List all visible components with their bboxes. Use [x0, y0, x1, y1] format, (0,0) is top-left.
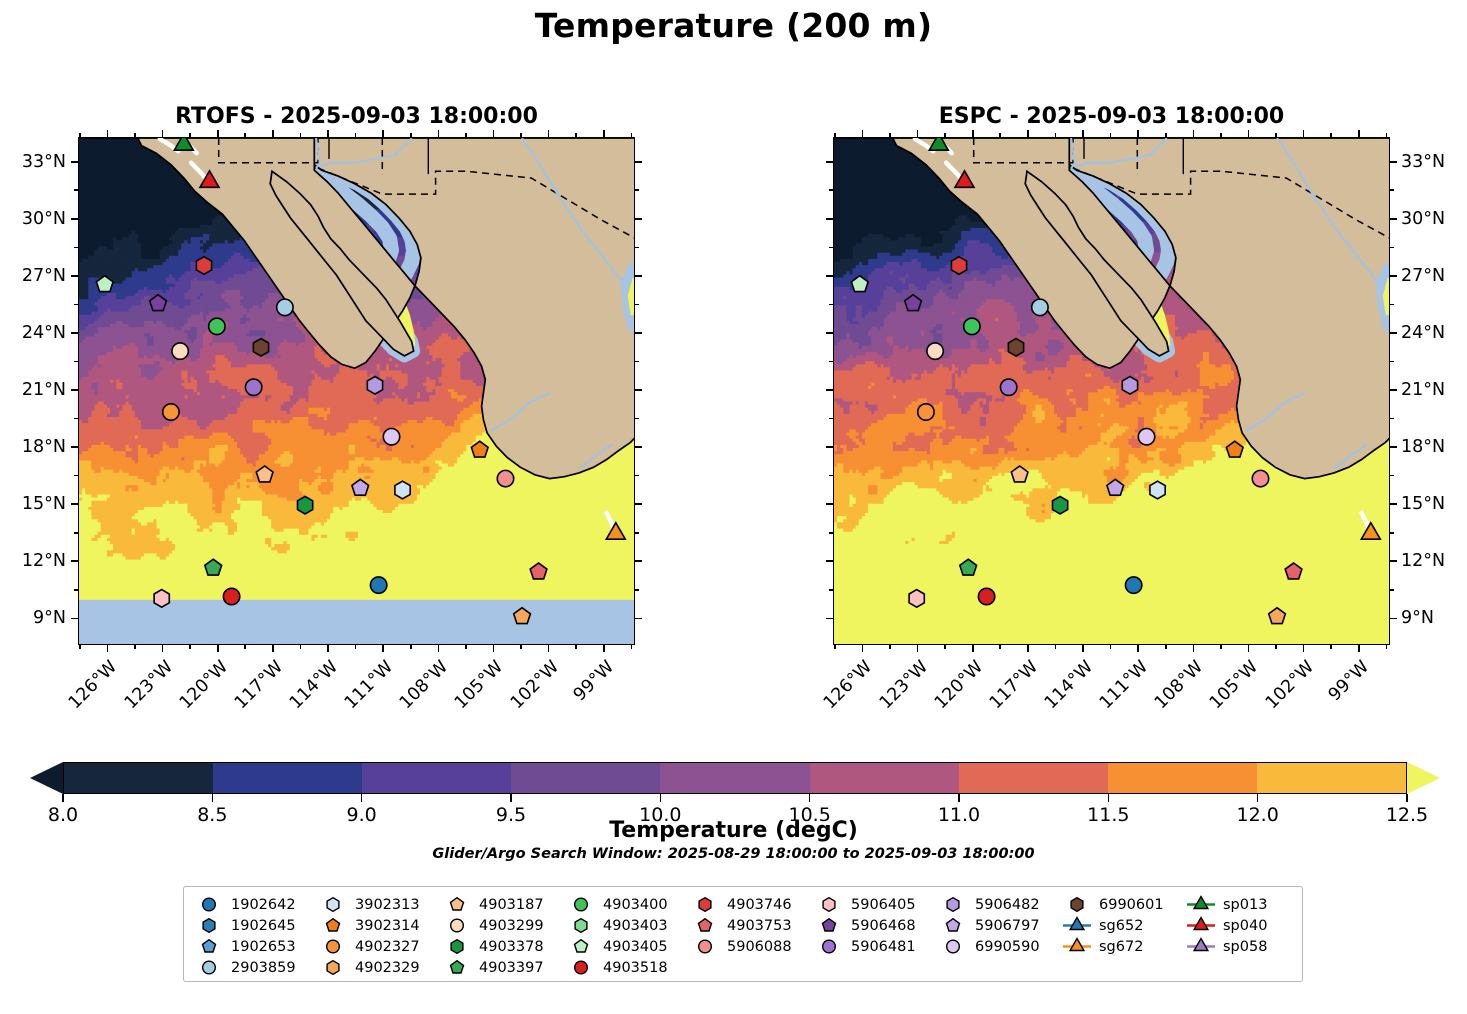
colorbar-band-5 — [810, 763, 959, 793]
legend-item-4903753[interactable]: 4903753 — [690, 915, 814, 936]
legend-item-4903746[interactable]: 4903746 — [690, 894, 814, 915]
legend-label: 4903403 — [603, 918, 668, 934]
legend-marker-icon — [318, 937, 348, 956]
legend-marker-icon — [318, 958, 348, 977]
legend-marker-icon — [690, 916, 720, 935]
lat-tick — [1390, 446, 1397, 448]
colorbar-band-7 — [1108, 763, 1257, 793]
lon-tick — [217, 645, 219, 652]
lat-tick — [635, 618, 642, 620]
legend-item-4902329[interactable]: 4902329 — [318, 957, 442, 978]
colorbar-tick — [958, 794, 960, 802]
platform-marker-1902642[interactable] — [370, 577, 386, 593]
legend-marker-icon — [442, 916, 472, 935]
legend-marker-icon — [318, 895, 348, 914]
lat-tick-label: 15°N — [1401, 494, 1445, 514]
lon-tick — [548, 645, 550, 652]
lon-tick — [1358, 130, 1360, 137]
temperature-field — [79, 138, 634, 644]
lat-tick — [635, 332, 642, 334]
colorbar-band-0 — [64, 763, 213, 793]
legend-label: 4903753 — [727, 918, 792, 934]
lat-tick — [1390, 618, 1397, 620]
legend-item-4902327[interactable]: 4902327 — [318, 936, 442, 957]
lon-tick — [862, 645, 864, 652]
lon-tick — [162, 645, 164, 652]
legend-item-3902313[interactable]: 3902313 — [318, 894, 442, 915]
marker-legend[interactable]: 1902642390231349031874903400490374659064… — [183, 886, 1303, 982]
lat-tick — [1390, 332, 1397, 334]
legend-item-4903405[interactable]: 4903405 — [566, 936, 690, 957]
lat-tick — [635, 275, 642, 277]
lon-tick — [1082, 130, 1084, 137]
legend-marker-icon — [194, 958, 224, 977]
legend-label: 4903299 — [479, 918, 544, 934]
figure-root: Temperature (200 m) RTOFS - 2025-09-03 1… — [0, 0, 1467, 1014]
legend-label: 1902653 — [231, 939, 296, 955]
panel-title-rtofs: RTOFS - 2025-09-03 18:00:00 — [78, 104, 635, 129]
legend-item-6990601[interactable]: 6990601 — [1062, 894, 1186, 915]
lat-tick — [635, 560, 642, 562]
platform-marker-5906481[interactable] — [245, 379, 261, 395]
colorbar-band-6 — [959, 763, 1108, 793]
panel-title-espc: ESPC - 2025-09-03 18:00:00 — [833, 104, 1390, 129]
colorbar-title: Temperature (degC) — [0, 818, 1467, 843]
lon-tick — [382, 130, 384, 137]
lon-tick — [1248, 645, 1250, 652]
lon-tick — [493, 645, 495, 652]
legend-marker-icon — [194, 895, 224, 914]
legend-item-5906481[interactable]: 5906481 — [814, 936, 938, 957]
legend-marker-icon — [1186, 937, 1216, 956]
legend-label: 5906481 — [851, 939, 916, 955]
colorbar-tick — [1108, 794, 1110, 802]
lon-tick — [862, 130, 864, 137]
lon-tick — [603, 645, 605, 652]
lat-tick — [826, 618, 833, 620]
lat-tick — [71, 332, 78, 334]
legend-marker-icon — [442, 937, 472, 956]
colorbar-extend-low-icon — [30, 762, 63, 794]
legend-label: 4902329 — [355, 960, 420, 976]
lat-tick-label: 27°N — [8, 266, 66, 286]
lon-tick — [1303, 645, 1305, 652]
lat-tick — [1390, 161, 1397, 163]
legend-item-5906088[interactable]: 5906088 — [690, 936, 814, 957]
lon-tick — [1027, 130, 1029, 137]
lat-tick — [71, 218, 78, 220]
legend-label: 5906797 — [975, 918, 1040, 934]
legend-item-sg672[interactable]: sg672 — [1062, 936, 1186, 957]
legend-marker-icon — [814, 895, 844, 914]
lat-tick — [71, 618, 78, 620]
platform-marker-4903746[interactable] — [196, 257, 211, 275]
lon-tick — [493, 130, 495, 137]
lon-tick — [917, 645, 919, 652]
legend-marker-icon — [690, 895, 720, 914]
legend-label: 4903397 — [479, 960, 544, 976]
legend-label: 4902327 — [355, 939, 420, 955]
legend-marker-icon — [1186, 895, 1216, 914]
legend-label: 1902642 — [231, 897, 296, 913]
legend-marker-icon — [566, 937, 596, 956]
legend-label: 3902314 — [355, 918, 420, 934]
lat-tick-label: 9°N — [1401, 608, 1434, 628]
search-window-subtitle: Glider/Argo Search Window: 2025-08-29 18… — [0, 846, 1467, 862]
legend-label: 5906468 — [851, 918, 916, 934]
lat-tick-label: 33°N — [1401, 152, 1445, 172]
lat-tick — [826, 275, 833, 277]
platform-marker-4903400[interactable] — [209, 318, 225, 334]
legend-label: 4903378 — [479, 939, 544, 955]
colorbar-ticks — [63, 794, 1407, 803]
legend-item-1902642[interactable]: 1902642 — [194, 894, 318, 915]
lat-tick-label: 30°N — [1401, 209, 1445, 229]
lat-tick — [826, 389, 833, 391]
legend-label: 4903518 — [603, 960, 668, 976]
lat-tick — [1390, 560, 1397, 562]
legend-label: 3902313 — [355, 897, 420, 913]
legend-marker-icon — [814, 937, 844, 956]
platform-marker-5906088[interactable] — [1252, 470, 1268, 486]
colorbar-gradient — [63, 762, 1407, 794]
lat-tick-label: 24°N — [8, 323, 66, 343]
legend-marker-icon — [814, 916, 844, 935]
legend-label: 4903187 — [479, 897, 544, 913]
platform-marker-5906088[interactable] — [497, 470, 513, 486]
platform-marker-4903746[interactable] — [951, 257, 966, 275]
platform-marker-5906482[interactable] — [367, 377, 382, 395]
legend-item-5906797[interactable]: 5906797 — [938, 915, 1062, 936]
colorbar-band-8 — [1257, 763, 1406, 793]
lat-tick — [635, 218, 642, 220]
colorbar-tick — [809, 794, 811, 802]
platform-marker-4902327[interactable] — [918, 404, 934, 420]
legend-marker-icon — [938, 895, 968, 914]
legend-item-4903397[interactable]: 4903397 — [442, 957, 566, 978]
lon-tick — [1137, 130, 1139, 137]
platform-marker-6990601[interactable] — [1008, 339, 1023, 357]
legend-label: sg652 — [1099, 918, 1143, 934]
colorbar-tick — [660, 794, 662, 802]
lon-tick — [272, 130, 274, 137]
lon-tick — [1027, 645, 1029, 652]
colorbar-band-1 — [213, 763, 362, 793]
legend-item-4903187[interactable]: 4903187 — [442, 894, 566, 915]
lon-tick — [548, 130, 550, 137]
lat-tick — [71, 503, 78, 505]
platform-marker-4903518[interactable] — [223, 588, 239, 604]
legend-item-4903403[interactable]: 4903403 — [566, 915, 690, 936]
legend-item-1902645[interactable]: 1902645 — [194, 915, 318, 936]
legend-marker-icon — [1062, 895, 1092, 914]
platform-marker-4903378[interactable] — [1053, 496, 1068, 514]
legend-marker-icon — [938, 937, 968, 956]
platform-marker-6990601[interactable] — [253, 339, 268, 357]
legend-item-sg652[interactable]: sg652 — [1062, 915, 1186, 936]
legend-grid: 1902642390231349031874903400490374659064… — [194, 894, 1292, 978]
colorbar-tick — [212, 794, 214, 802]
legend-label: 4903746 — [727, 897, 792, 913]
lat-tick — [635, 446, 642, 448]
lat-tick-label: 18°N — [1401, 437, 1445, 457]
legend-marker-icon — [442, 958, 472, 977]
lat-tick — [1390, 218, 1397, 220]
colorbar-tick — [1406, 794, 1408, 802]
lon-tick — [438, 130, 440, 137]
lon-tick — [917, 130, 919, 137]
legend-item-3902314[interactable]: 3902314 — [318, 915, 442, 936]
colorbar-tick — [510, 794, 512, 802]
legend-item-6990590[interactable]: 6990590 — [938, 936, 1062, 957]
legend-marker-icon — [318, 916, 348, 935]
lon-tick — [972, 130, 974, 137]
lon-tick — [1193, 130, 1195, 137]
lon-tick — [1248, 130, 1250, 137]
lat-tick-label: 21°N — [1401, 380, 1445, 400]
lat-tick — [71, 560, 78, 562]
map-panel-espc[interactable]: ESPC - 2025-09-03 18:00:00 — [833, 137, 1390, 645]
legend-item-5906468[interactable]: 5906468 — [814, 915, 938, 936]
lat-tick — [635, 503, 642, 505]
lat-tick — [635, 389, 642, 391]
lon-tick — [438, 645, 440, 652]
legend-item-5906482[interactable]: 5906482 — [938, 894, 1062, 915]
platform-marker-6990590[interactable] — [1138, 429, 1154, 445]
legend-item-5906405[interactable]: 5906405 — [814, 894, 938, 915]
legend-marker-icon — [194, 937, 224, 956]
platform-marker-1902642[interactable] — [1125, 577, 1141, 593]
legend-item-4903378[interactable]: 4903378 — [442, 936, 566, 957]
legend-marker-icon — [1062, 937, 1092, 956]
platform-marker-2903859[interactable] — [1032, 299, 1048, 315]
platform-marker-4903299[interactable] — [927, 343, 943, 359]
legend-marker-icon — [566, 916, 596, 935]
legend-label: 1902645 — [231, 918, 296, 934]
lon-tick — [327, 130, 329, 137]
legend-marker-icon — [566, 958, 596, 977]
lat-tick-label: 12°N — [8, 551, 66, 571]
platform-marker-4902327[interactable] — [163, 404, 179, 420]
platform-marker-5906481[interactable] — [1000, 379, 1016, 395]
lon-tick — [603, 130, 605, 137]
legend-marker-icon — [938, 916, 968, 935]
colorbar-band-4 — [660, 763, 809, 793]
platform-marker-5906405[interactable] — [909, 590, 924, 608]
platform-marker-4903400[interactable] — [964, 318, 980, 334]
lon-tick — [327, 645, 329, 652]
platform-marker-4903518[interactable] — [978, 588, 994, 604]
lat-tick-label: 33°N — [8, 152, 66, 172]
lat-tick — [826, 161, 833, 163]
legend-label: 5906088 — [727, 939, 792, 955]
figure-title: Temperature (200 m) — [0, 6, 1467, 45]
platform-marker-6990590[interactable] — [383, 429, 399, 445]
legend-marker-icon — [566, 895, 596, 914]
legend-label: 4903400 — [603, 897, 668, 913]
lat-tick — [826, 218, 833, 220]
lat-tick-label: 18°N — [8, 437, 66, 457]
lon-tick — [162, 130, 164, 137]
legend-item-sp040[interactable]: sp040 — [1186, 915, 1310, 936]
platform-marker-5906482[interactable] — [1122, 377, 1137, 395]
lat-tick — [826, 503, 833, 505]
legend-label: 5906405 — [851, 897, 916, 913]
platform-marker-4903378[interactable] — [298, 496, 313, 514]
lon-tick — [972, 645, 974, 652]
lon-tick — [1193, 645, 1195, 652]
legend-item-1902653[interactable]: 1902653 — [194, 936, 318, 957]
lat-tick-label: 21°N — [8, 380, 66, 400]
platform-marker-3902313[interactable] — [1150, 481, 1165, 499]
legend-label: sp058 — [1223, 939, 1267, 955]
lat-tick — [71, 161, 78, 163]
legend-label: sp013 — [1223, 897, 1267, 913]
lat-tick — [1390, 503, 1397, 505]
colorbar-band-2 — [362, 763, 511, 793]
map-canvas-espc[interactable] — [833, 137, 1390, 645]
lat-tick — [826, 332, 833, 334]
platform-marker-4903299[interactable] — [172, 343, 188, 359]
lon-tick — [107, 645, 109, 652]
legend-item-4903518[interactable]: 4903518 — [566, 957, 690, 978]
colorbar[interactable]: 8.08.59.09.510.010.511.011.512.012.5 — [30, 762, 1440, 794]
lon-tick — [272, 645, 274, 652]
legend-label: 5906482 — [975, 897, 1040, 913]
lat-tick-label: 27°N — [1401, 266, 1445, 286]
lat-tick — [635, 161, 642, 163]
colorbar-tick — [1257, 794, 1259, 802]
lon-tick — [1082, 645, 1084, 652]
platform-marker-2903859[interactable] — [277, 299, 293, 315]
legend-marker-icon — [690, 937, 720, 956]
legend-marker-icon — [194, 916, 224, 935]
lat-tick-label: 24°N — [1401, 323, 1445, 343]
legend-label: 6990601 — [1099, 897, 1164, 913]
platform-marker-5906405[interactable] — [154, 590, 169, 608]
lon-tick — [217, 130, 219, 137]
lon-tick — [107, 130, 109, 137]
legend-marker-icon — [1062, 916, 1092, 935]
lon-tick — [1358, 645, 1360, 652]
lat-tick-label: 12°N — [1401, 551, 1445, 571]
lat-tick-label: 15°N — [8, 494, 66, 514]
legend-item-4903299[interactable]: 4903299 — [442, 915, 566, 936]
lat-tick — [71, 275, 78, 277]
lat-tick-label: 30°N — [8, 209, 66, 229]
lat-tick — [1390, 275, 1397, 277]
colorbar-band-3 — [511, 763, 660, 793]
map-panel-rtofs[interactable]: RTOFS - 2025-09-03 18:00:00 — [78, 137, 635, 645]
legend-label: sp040 — [1223, 918, 1267, 934]
lon-tick — [1303, 130, 1305, 137]
lat-tick — [71, 446, 78, 448]
lat-tick — [826, 560, 833, 562]
legend-item-sp058[interactable]: sp058 — [1186, 936, 1310, 957]
legend-item-4903400[interactable]: 4903400 — [566, 894, 690, 915]
lat-tick — [71, 389, 78, 391]
lat-tick-label: 9°N — [8, 608, 66, 628]
legend-item-sp013[interactable]: sp013 — [1186, 894, 1310, 915]
lon-tick — [382, 645, 384, 652]
lat-tick — [1390, 389, 1397, 391]
legend-label: sg672 — [1099, 939, 1143, 955]
legend-label: 2903859 — [231, 960, 296, 976]
platform-marker-3902313[interactable] — [395, 481, 410, 499]
temperature-field — [834, 138, 1389, 644]
legend-label: 4903405 — [603, 939, 668, 955]
map-canvas-rtofs[interactable] — [78, 137, 635, 645]
legend-item-2903859[interactable]: 2903859 — [194, 957, 318, 978]
colorbar-extend-high-icon — [1407, 762, 1440, 794]
legend-marker-icon — [442, 895, 472, 914]
colorbar-tick — [62, 794, 64, 802]
colorbar-tick — [361, 794, 363, 802]
legend-marker-icon — [1186, 916, 1216, 935]
legend-label: 6990590 — [975, 939, 1040, 955]
lon-tick — [1137, 645, 1139, 652]
lat-tick — [826, 446, 833, 448]
